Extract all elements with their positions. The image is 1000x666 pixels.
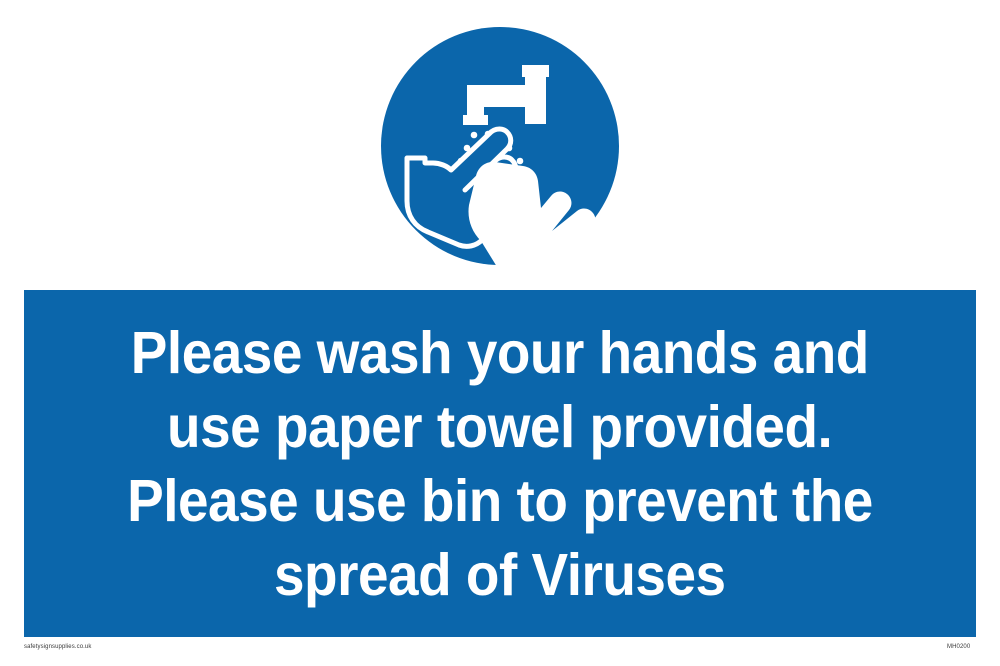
safety-sign-page: Please wash your hands and use paper tow…: [0, 0, 1000, 666]
footer-product-code: MH0200: [947, 643, 970, 651]
message-banner: Please wash your hands and use paper tow…: [24, 290, 976, 637]
message-line-3: Please use bin to prevent the: [127, 464, 873, 538]
message-line-2: use paper towel provided.: [167, 390, 832, 464]
pictogram-area: [0, 0, 1000, 282]
footer-website-url: safetysignsupplies.co.uk: [24, 643, 91, 651]
message-line-1: Please wash your hands and: [131, 316, 869, 390]
wash-your-hands-icon: [381, 27, 619, 265]
message-line-4: spread of Viruses: [274, 538, 726, 612]
